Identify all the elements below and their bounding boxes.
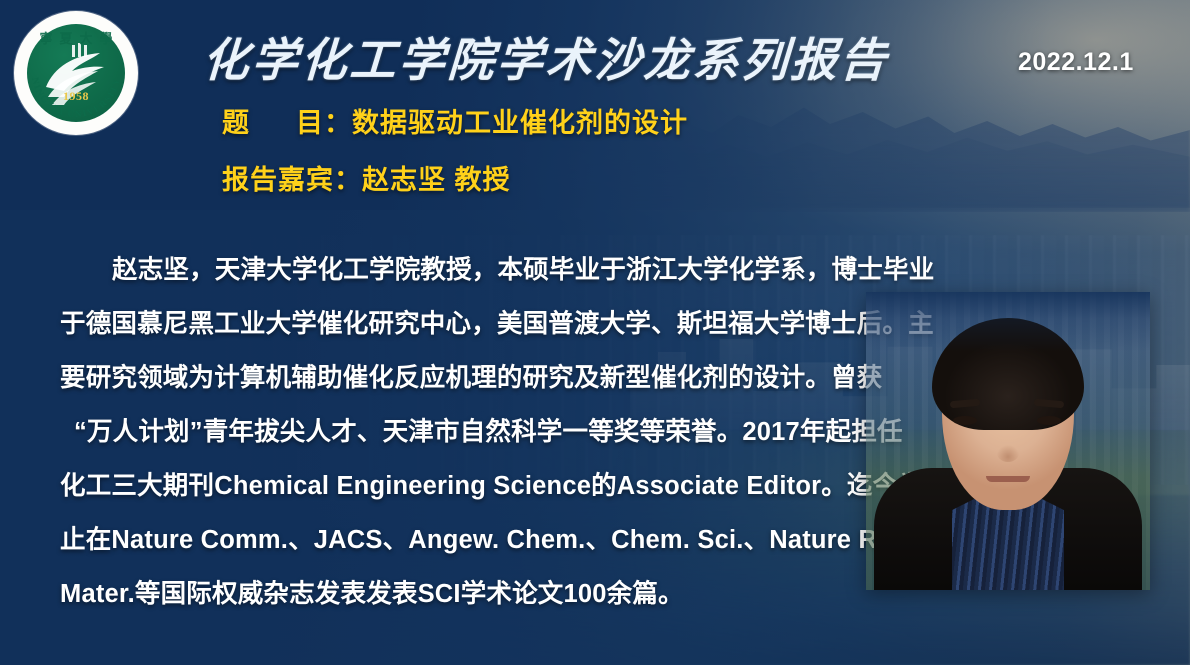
bio-line: “万人计划”青年拔尖人才、天津市自然科学一等奖等荣誉。2017年起担任: [60, 405, 890, 459]
university-logo: NINGXIA UNIVERSITY 寧夏大學 1958: [14, 11, 138, 135]
subject-value: 数据驱动工业催化剂的设计: [352, 108, 688, 138]
guest-rank: 教授: [455, 165, 511, 195]
guest-name: 赵志坚: [362, 165, 446, 195]
logo-chinese-name: 寧夏大學: [14, 28, 138, 47]
speaker-biography: 赵志坚，天津大学化工学院教授，本硕毕业于浙江大学化学系，博士毕业 于德国慕尼黑工…: [60, 243, 890, 621]
subject-line: 题目：数据驱动工业催化剂的设计: [222, 101, 688, 140]
photo-nose: [997, 444, 1019, 462]
bio-line: 要研究领域为计算机辅助催化反应机理的研究及新型催化剂的设计。曾获: [60, 351, 890, 405]
bio-line: 化工三大期刊Chemical Engineering Science的Assoc…: [60, 459, 890, 513]
photo-mouth: [986, 476, 1030, 482]
bio-line: Mater.等国际权威杂志发表发表SCI学术论文100余篇。: [60, 567, 890, 621]
logo-founded-year: 1958: [14, 89, 138, 104]
guest-label: 报告嘉宾：: [222, 165, 362, 195]
bio-line: 赵志坚，天津大学化工学院教授，本硕毕业于浙江大学化学系，博士毕业: [60, 243, 890, 297]
seminar-poster: NINGXIA UNIVERSITY 寧夏大學 1958 化学化工学院学术沙龙系…: [0, 0, 1190, 665]
subject-label: 题: [222, 108, 250, 138]
event-date: 2022.12.1: [1018, 48, 1134, 77]
bio-line: 于德国慕尼黑工业大学催化研究中心，美国普渡大学、斯坦福大学博士后。主: [60, 297, 890, 351]
subject-label-2: 目：: [296, 108, 352, 138]
speaker-photo: [866, 292, 1150, 590]
photo-eye-right: [1037, 416, 1061, 425]
guest-line: 报告嘉宾：赵志坚 教授: [222, 158, 511, 197]
photo-eye-left: [953, 416, 977, 425]
bio-line: 止在Nature Comm.、JACS、Angew. Chem.、Chem. S…: [60, 513, 890, 567]
page-title: 化学化工学院学术沙龙系列报告: [201, 24, 890, 90]
